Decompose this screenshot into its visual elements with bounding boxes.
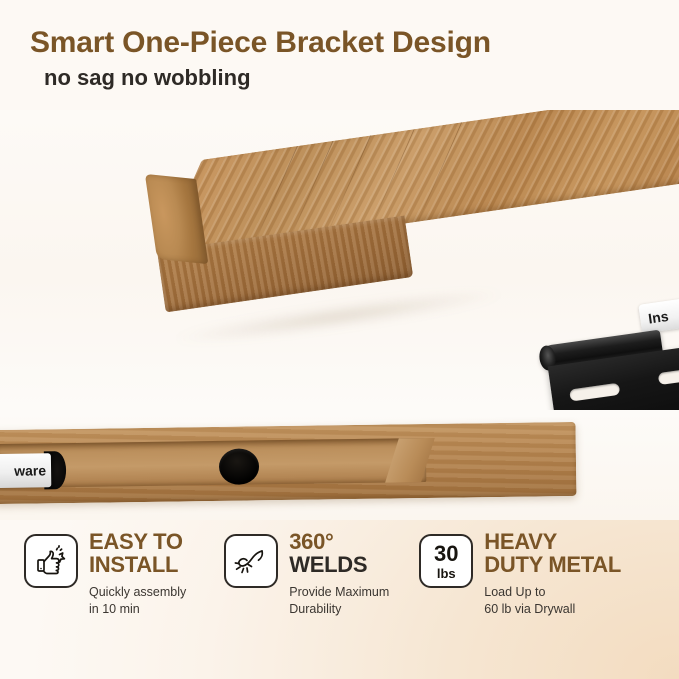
feature-text-block: EASY TO INSTALL Quickly assembly in 10 m… — [89, 530, 186, 617]
weight-badge-icon: 30 lbs — [419, 534, 473, 588]
weight-badge-content: 30 lbs — [434, 543, 458, 580]
feature-text-block: 360° WELDS Provide Maximum Durability — [289, 530, 389, 617]
feature-desc-line1: Provide Maximum — [289, 584, 389, 601]
feature-title-line1: 360° — [289, 530, 389, 553]
lower-shelf-sticker-label: ware — [0, 453, 51, 488]
feature-desc-line2: 60 lb via Drywall — [484, 601, 621, 618]
weld-spark-icon — [224, 534, 278, 588]
feature-title-line1: HEAVY — [484, 530, 621, 553]
feature-desc-line2: in 10 min — [89, 601, 186, 618]
feature-easy-to-install: EASY TO INSTALL Quickly assembly in 10 m… — [24, 530, 186, 617]
feature-title-line1: EASY TO — [89, 530, 186, 553]
lower-product-photo: ware — [0, 410, 679, 520]
feature-title-line2: INSTALL — [89, 553, 186, 576]
product-infographic: Smart One-Piece Bracket Design no sag no… — [0, 0, 679, 679]
feature-strip: EASY TO INSTALL Quickly assembly in 10 m… — [0, 530, 679, 650]
feature-desc-line1: Load Up to — [484, 584, 621, 601]
weight-unit: lbs — [437, 567, 456, 580]
feature-desc-line2: Durability — [289, 601, 389, 618]
upper-shelf-sticker-label: Ins — [638, 295, 679, 333]
shelf-top-face — [158, 110, 679, 259]
feature-desc-line1: Quickly assembly — [89, 584, 186, 601]
upper-product-photo: Ins — [0, 110, 679, 410]
weight-number: 30 — [434, 543, 458, 565]
feature-heavy-duty-metal: 30 lbs HEAVY DUTY METAL Load Up to 60 lb… — [419, 530, 621, 617]
feature-title-line2: DUTY METAL — [484, 553, 621, 576]
bracket-slot — [658, 367, 679, 386]
bracket-slot — [569, 383, 620, 402]
feature-title-line2: WELDS — [289, 553, 389, 576]
page-title: Smart One-Piece Bracket Design — [30, 26, 650, 60]
thumbs-up-icon — [24, 534, 78, 588]
lower-wood-shelf: ware — [0, 422, 576, 504]
header-block: Smart One-Piece Bracket Design no sag no… — [30, 26, 650, 90]
page-subtitle: no sag no wobbling — [44, 65, 650, 90]
feature-360-welds: 360° WELDS Provide Maximum Durability — [224, 530, 389, 617]
feature-text-block: HEAVY DUTY METAL Load Up to 60 lb via Dr… — [484, 530, 621, 617]
